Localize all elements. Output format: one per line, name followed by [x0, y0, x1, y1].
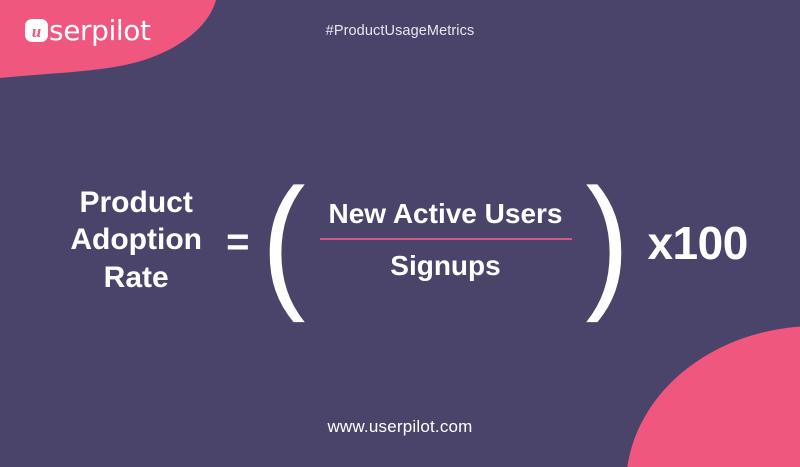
infographic-canvas: u serpilot #ProductUsageMetrics Product …	[0, 0, 800, 467]
fraction: New Active Users Signups	[312, 196, 580, 285]
formula-block: Product Adoption Rate = ( New Active Use…	[0, 160, 800, 320]
footer-website-url[interactable]: www.userpilot.com	[0, 417, 800, 437]
equals-sign: =	[226, 222, 249, 262]
fraction-numerator: New Active Users	[329, 196, 563, 238]
bottom-right-pink-circle-shape	[626, 326, 800, 467]
fraction-denominator: Signups	[390, 240, 500, 284]
formula-metric-label: Product Adoption Rate	[52, 184, 220, 297]
hashtag-label: #ProductUsageMetrics	[0, 23, 800, 39]
multiplier-value: x100	[647, 220, 747, 266]
